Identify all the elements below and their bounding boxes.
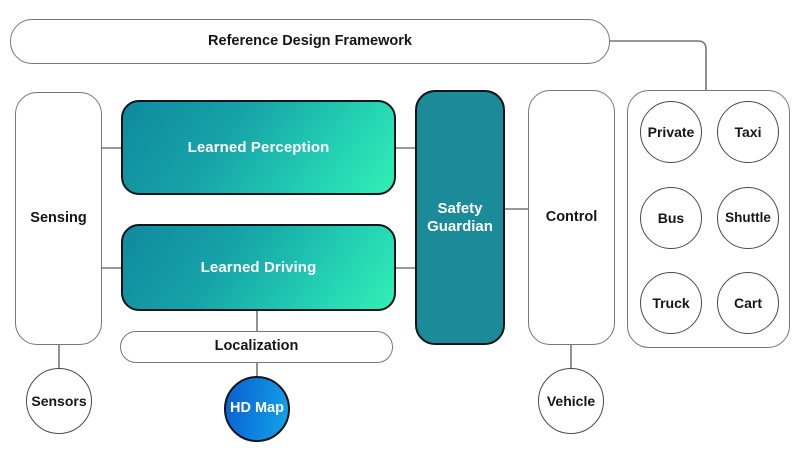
diagram-canvas: Reference Design Framework Sensing Senso… (0, 0, 800, 450)
learned-driving-box[interactable]: Learned Driving (121, 224, 396, 311)
vehicle-type-private-circle[interactable]: Private (640, 101, 702, 163)
vehicle-type-truck-label: Truck (652, 295, 689, 312)
localization-box[interactable]: Localization (120, 331, 393, 363)
vehicle-type-cart-circle[interactable]: Cart (717, 272, 779, 334)
vehicle-type-private-label: Private (648, 124, 695, 141)
vehicle-type-shuttle-circle[interactable]: Shuttle (717, 187, 779, 249)
vehicle-type-taxi-label: Taxi (735, 124, 762, 141)
reference-design-framework-box[interactable]: Reference Design Framework (10, 19, 610, 64)
learned-perception-box[interactable]: Learned Perception (121, 100, 396, 195)
learned-perception-label: Learned Perception (188, 139, 330, 157)
link-framework-to-vehicle-group (610, 41, 706, 90)
control-label: Control (546, 209, 598, 226)
sensing-label: Sensing (30, 210, 86, 227)
vehicle-type-bus-circle[interactable]: Bus (640, 187, 702, 249)
sensing-box[interactable]: Sensing (15, 92, 102, 345)
vehicle-label: Vehicle (547, 393, 595, 410)
vehicle-circle[interactable]: Vehicle (538, 368, 604, 434)
vehicle-type-shuttle-label: Shuttle (725, 210, 771, 226)
learned-driving-label: Learned Driving (201, 259, 317, 277)
vehicle-type-cart-label: Cart (734, 295, 762, 312)
safety-guardian-label-line2: Guardian (427, 218, 493, 236)
safety-guardian-label-line1: Safety (437, 200, 482, 218)
vehicle-type-bus-label: Bus (658, 210, 684, 227)
vehicle-type-truck-circle[interactable]: Truck (640, 272, 702, 334)
hd-map-label: HD Map (230, 400, 284, 417)
sensors-circle[interactable]: Sensors (26, 368, 92, 434)
localization-label: Localization (215, 338, 299, 355)
hd-map-circle[interactable]: HD Map (224, 376, 290, 442)
sensors-label: Sensors (31, 393, 86, 410)
reference-design-framework-label: Reference Design Framework (208, 33, 412, 50)
control-box[interactable]: Control (528, 90, 615, 345)
vehicle-type-taxi-circle[interactable]: Taxi (717, 101, 779, 163)
safety-guardian-box[interactable]: Safety Guardian (415, 90, 505, 345)
